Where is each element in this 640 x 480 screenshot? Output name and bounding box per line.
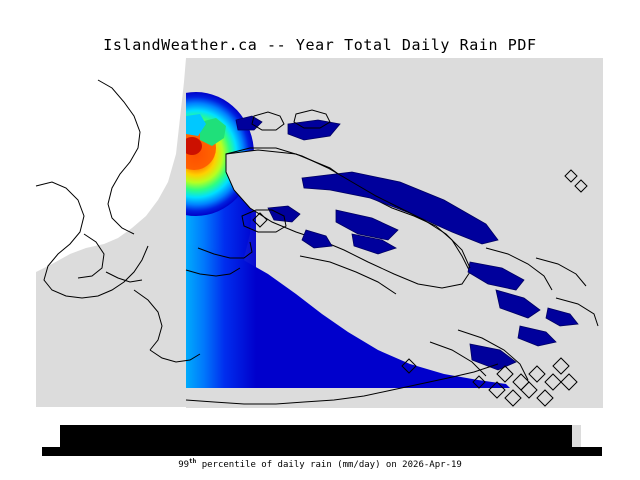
map-panel[interactable]	[0, 58, 640, 408]
colorbar-tick-labels: 0 10 20 30 40 50 60 70 80 90 100	[42, 447, 602, 456]
rain-map[interactable]	[0, 58, 640, 408]
colorbar-caption: 99th percentile of daily rain (mm/day) o…	[0, 458, 640, 470]
colorbar-region: 0 10 20 30 40 50 60 70 80 90 100	[0, 420, 640, 454]
colorbar-gradient	[60, 425, 572, 449]
caption-percentile-number: 99	[178, 460, 189, 470]
colorbar-tick-strip: 0 10 20 30 40 50 60 70 80 90 100	[42, 447, 602, 456]
screenshot-root: IslandWeather.ca -- Year Total Daily Rai…	[0, 0, 640, 480]
colorbar-overflow-swatch	[572, 425, 581, 449]
caption-text: percentile of daily rain (mm/day) on 202…	[196, 460, 462, 470]
page-title: IslandWeather.ca -- Year Total Daily Rai…	[0, 36, 640, 54]
